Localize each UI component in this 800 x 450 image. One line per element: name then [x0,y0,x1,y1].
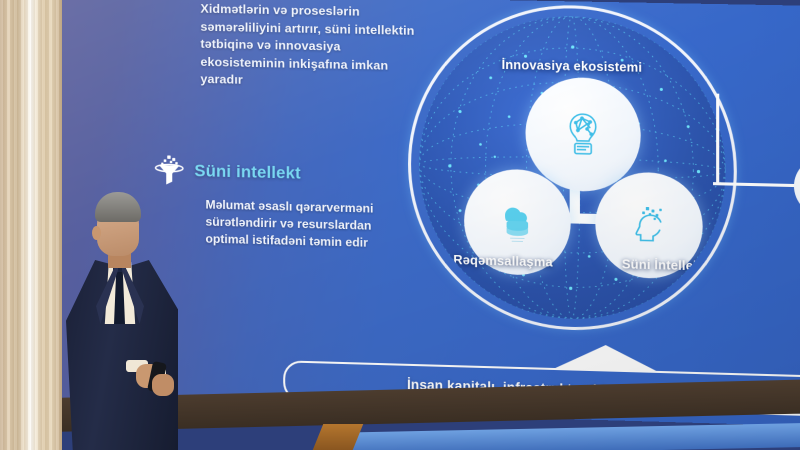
presenter-hand-right [152,374,174,396]
presenter-ear [92,226,101,240]
slide-paragraph-intro: Xidmətlərin və proseslərin səmərəliliyin… [200,1,418,94]
innovation-ecosystem-diagram: İnnovasiya ekosistemi [408,2,737,334]
desk-surface [330,423,800,450]
edge-callout-bubble [794,156,800,217]
ai-section-title: Süni intellekt [194,162,300,184]
photo-scene: Xidmətlərin və proseslərin səmərəliliyin… [0,0,800,450]
presenter-figure [52,192,192,450]
ai-section-paragraph: Məlumat əsaslı qərarverməni sürətləndiri… [205,196,413,253]
data-funnel-icon [152,154,186,187]
callout-connector-vertical [716,94,719,186]
ai-section-header: Süni intellekt [152,154,415,192]
presenter-hair [95,192,141,222]
